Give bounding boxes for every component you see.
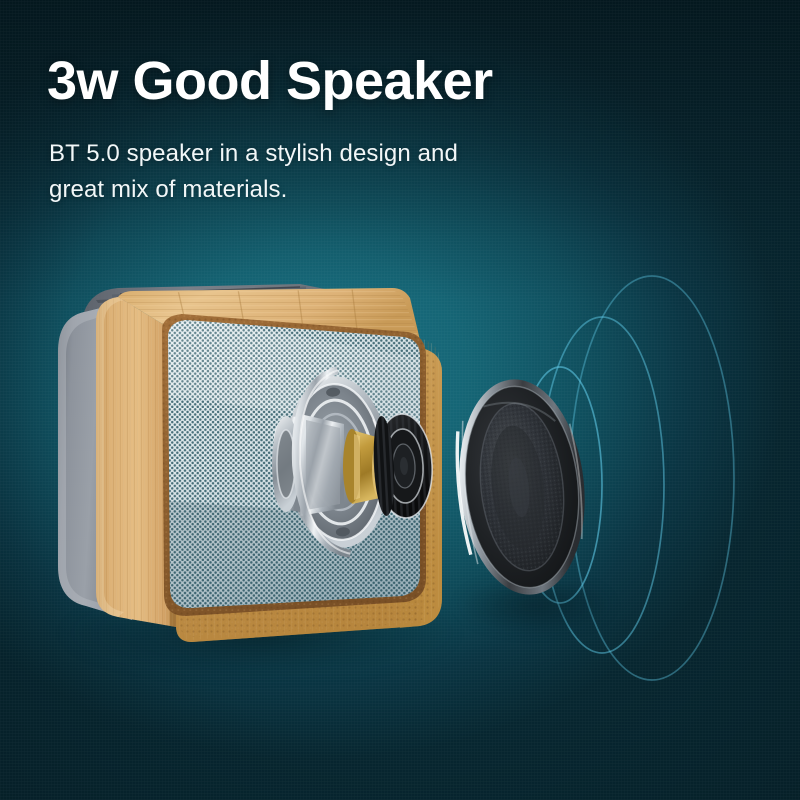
subtitle-line-1: BT 5.0 speaker in a stylish design and bbox=[49, 136, 458, 172]
bluetooth-speaker-product bbox=[0, 0, 800, 800]
page-title: 3w Good Speaker bbox=[47, 53, 493, 110]
product-banner: 3w Good Speaker BT 5.0 speaker in a styl… bbox=[0, 0, 800, 800]
subtitle-line-2: great mix of materials. bbox=[49, 172, 458, 208]
detached-speaker-cone bbox=[448, 373, 595, 601]
page-subtitle: BT 5.0 speaker in a stylish design and g… bbox=[49, 136, 458, 209]
